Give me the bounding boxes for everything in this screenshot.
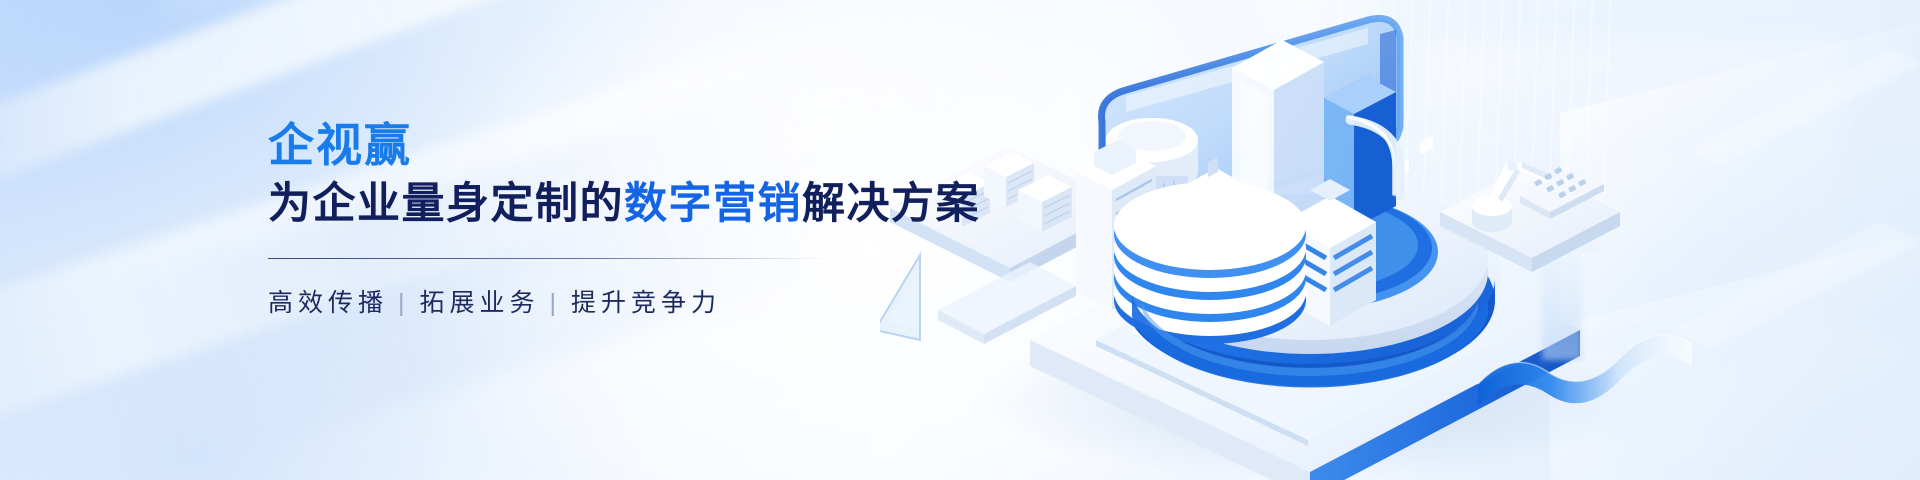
marketing-hero-banner: 企视赢 为企业量身定制的数字营销解决方案 高效传播|拓展业务|提升竞争力 — [0, 0, 1920, 480]
brand-name: 企视赢 — [268, 118, 928, 172]
diagonal-band-3 — [120, 0, 988, 23]
feature-item-3: 提升竞争力 — [571, 289, 721, 317]
headline-suffix: 解决方案 — [802, 180, 980, 228]
divider-rule — [268, 258, 828, 259]
right-iso-planes — [1580, 48, 1920, 476]
hero-headline: 为企业量身定制的数字营销解决方案 — [268, 178, 928, 232]
city-tower-cluster — [1076, 40, 1400, 344]
feature-separator-1: | — [388, 289, 420, 317]
hero-illustration — [880, 0, 1920, 480]
feature-list: 高效传播|拓展业务|提升竞争力 — [268, 283, 928, 319]
headline-prefix: 为企业量身定制的 — [268, 180, 624, 228]
feature-item-2: 拓展业务 — [420, 289, 540, 317]
headline-highlight: 数字营销 — [624, 180, 802, 228]
hero-copy-block: 企视赢 为企业量身定制的数字营销解决方案 高效传播|拓展业务|提升竞争力 — [268, 118, 928, 319]
feature-separator-2: | — [540, 289, 572, 317]
feature-item-1: 高效传播 — [268, 289, 388, 317]
